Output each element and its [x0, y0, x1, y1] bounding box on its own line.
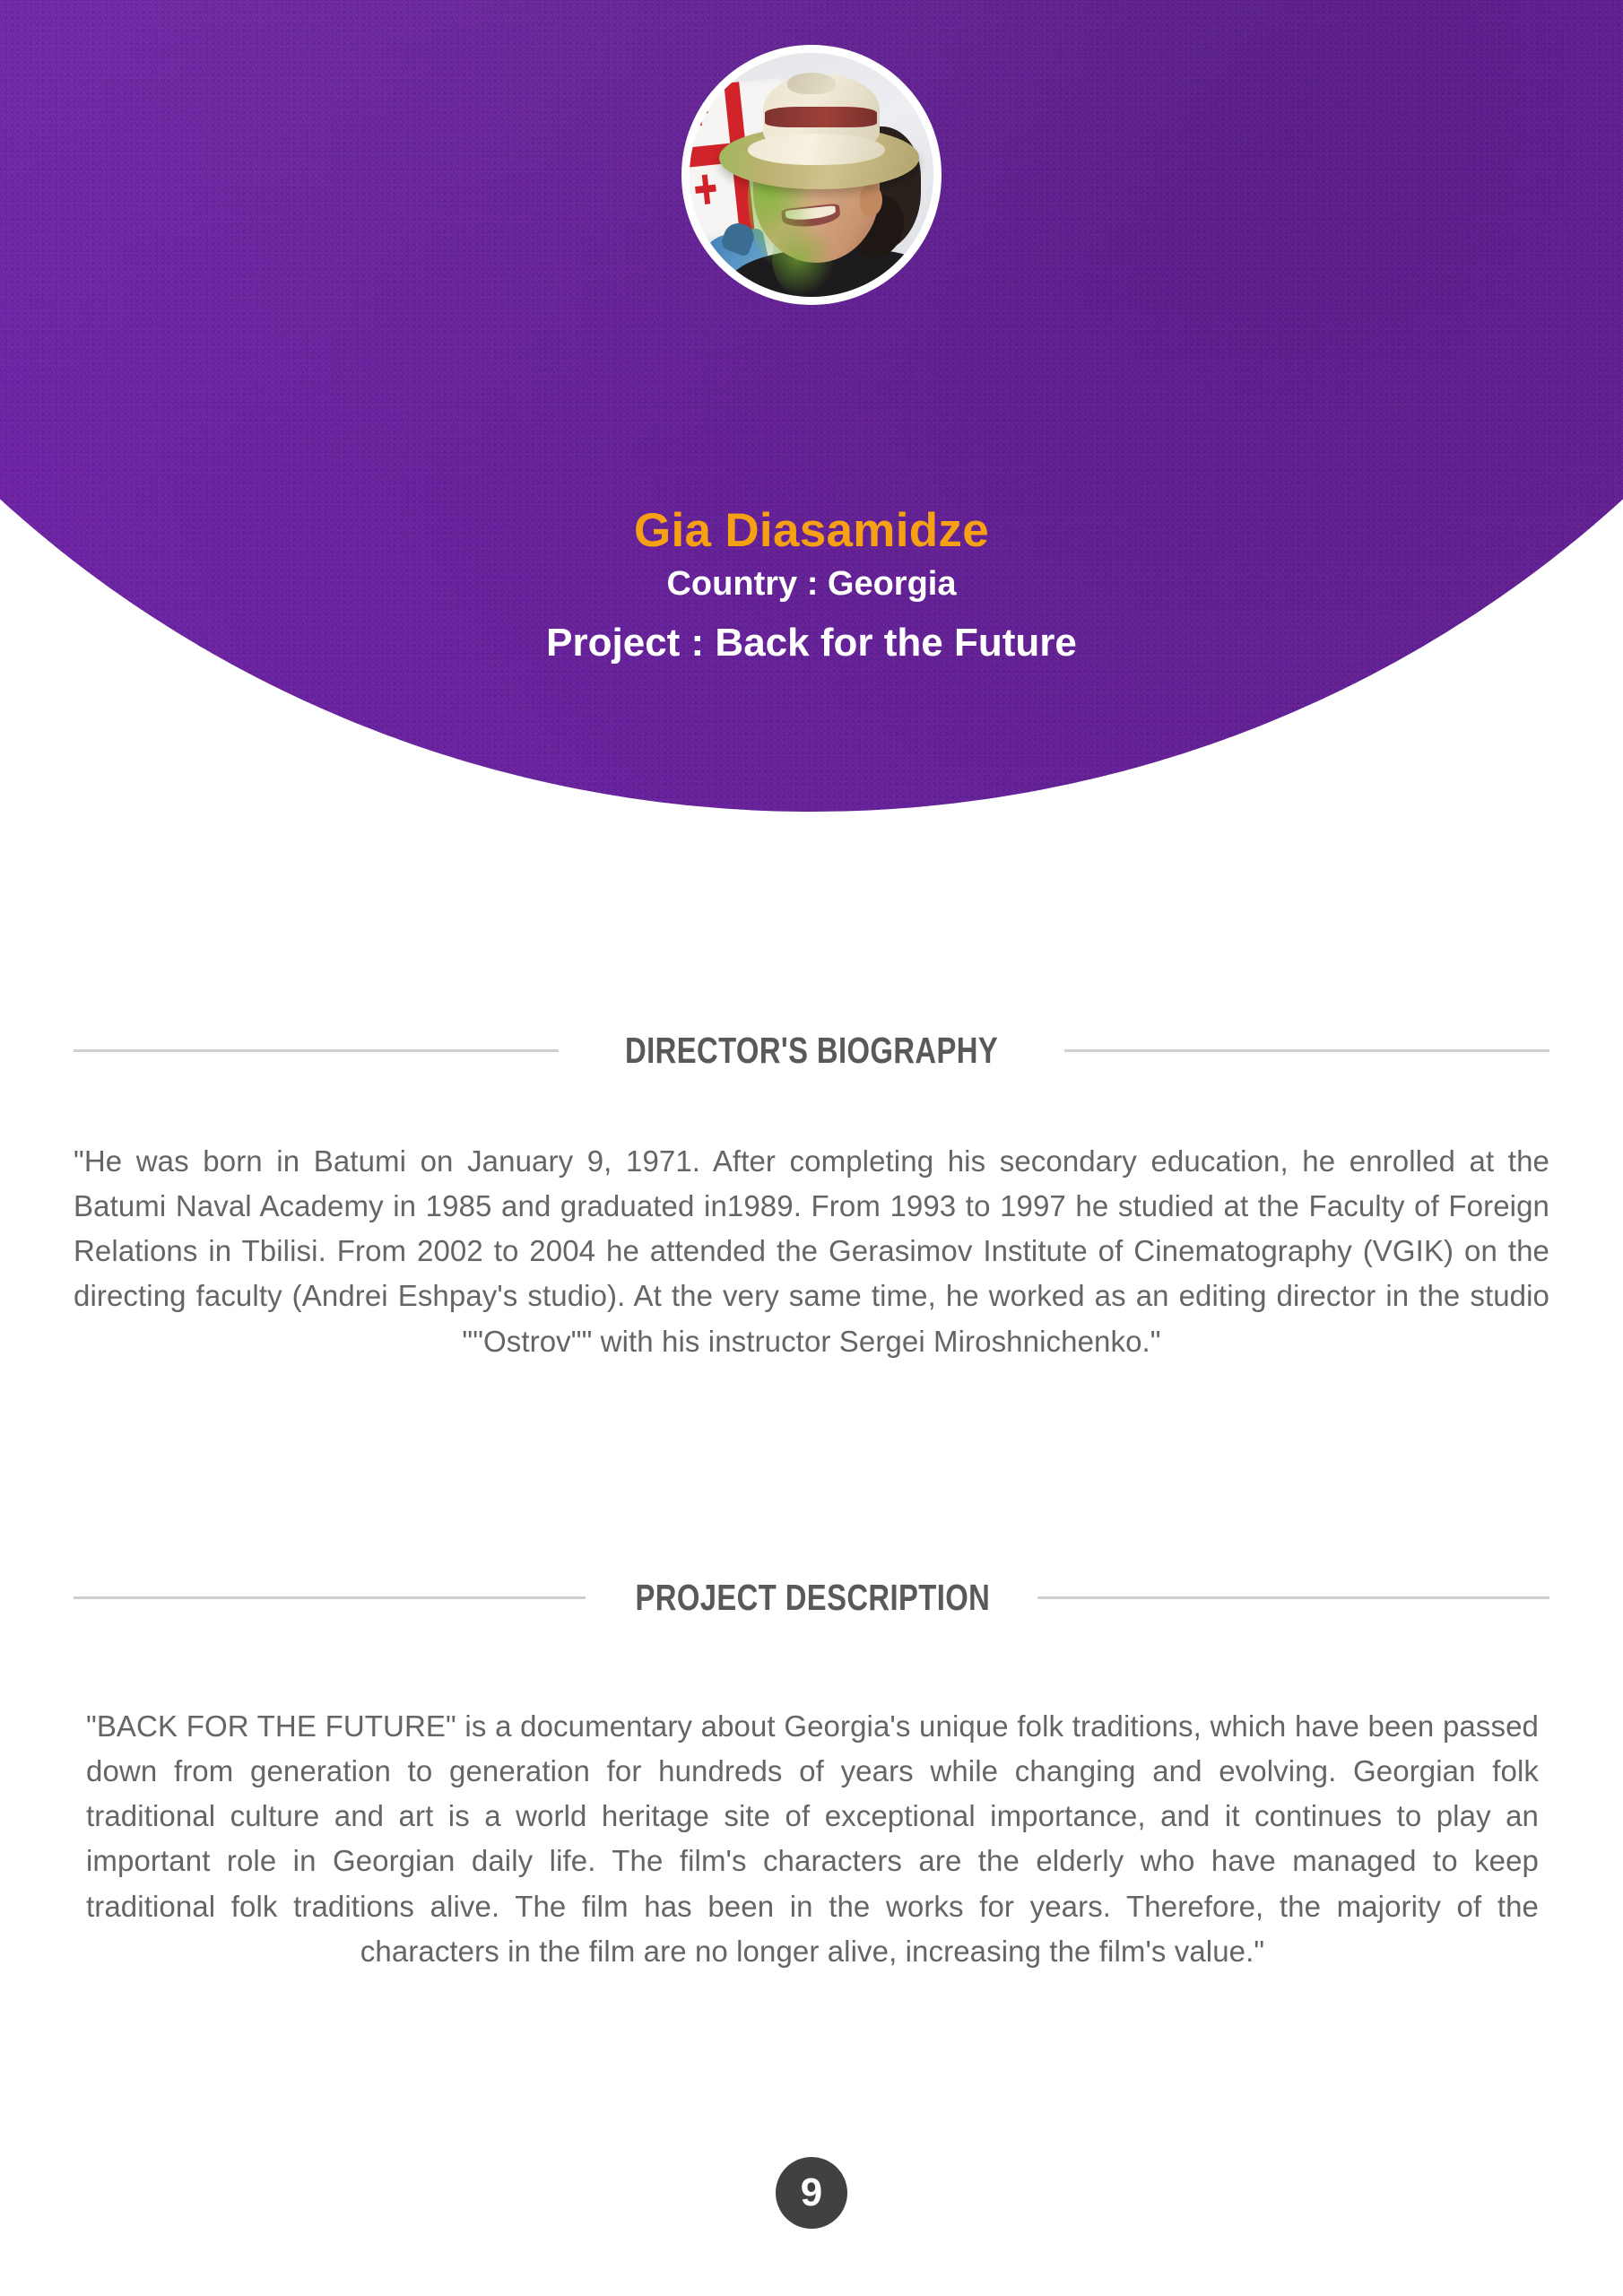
- biography-section-heading: DIRECTOR'S BIOGRAPHY: [74, 1030, 1549, 1072]
- heading-rule-left: [74, 1049, 559, 1052]
- header-text-block: Gia Diasamidze Country : Georgia Project…: [0, 0, 1623, 663]
- heading-rule-right: [1064, 1049, 1549, 1052]
- biography-body-text: "He was born in Batumi on January 9, 197…: [74, 1139, 1549, 1364]
- biography-heading-title: DIRECTOR'S BIOGRAPHY: [625, 1030, 998, 1072]
- page-number-badge: 9: [776, 2157, 847, 2229]
- director-name: Gia Diasamidze: [0, 507, 1623, 554]
- project-description-heading-title: PROJECT DESCRIPTION: [635, 1577, 990, 1619]
- heading-rule-left: [74, 1596, 586, 1599]
- country-label: Country : Georgia: [0, 567, 1623, 601]
- project-label: Project : Back for the Future: [0, 623, 1623, 663]
- project-description-body-text: "BACK FOR THE FUTURE" is a documentary a…: [86, 1704, 1539, 1974]
- heading-rule-right: [1037, 1596, 1549, 1599]
- project-description-section-heading: PROJECT DESCRIPTION: [74, 1577, 1549, 1619]
